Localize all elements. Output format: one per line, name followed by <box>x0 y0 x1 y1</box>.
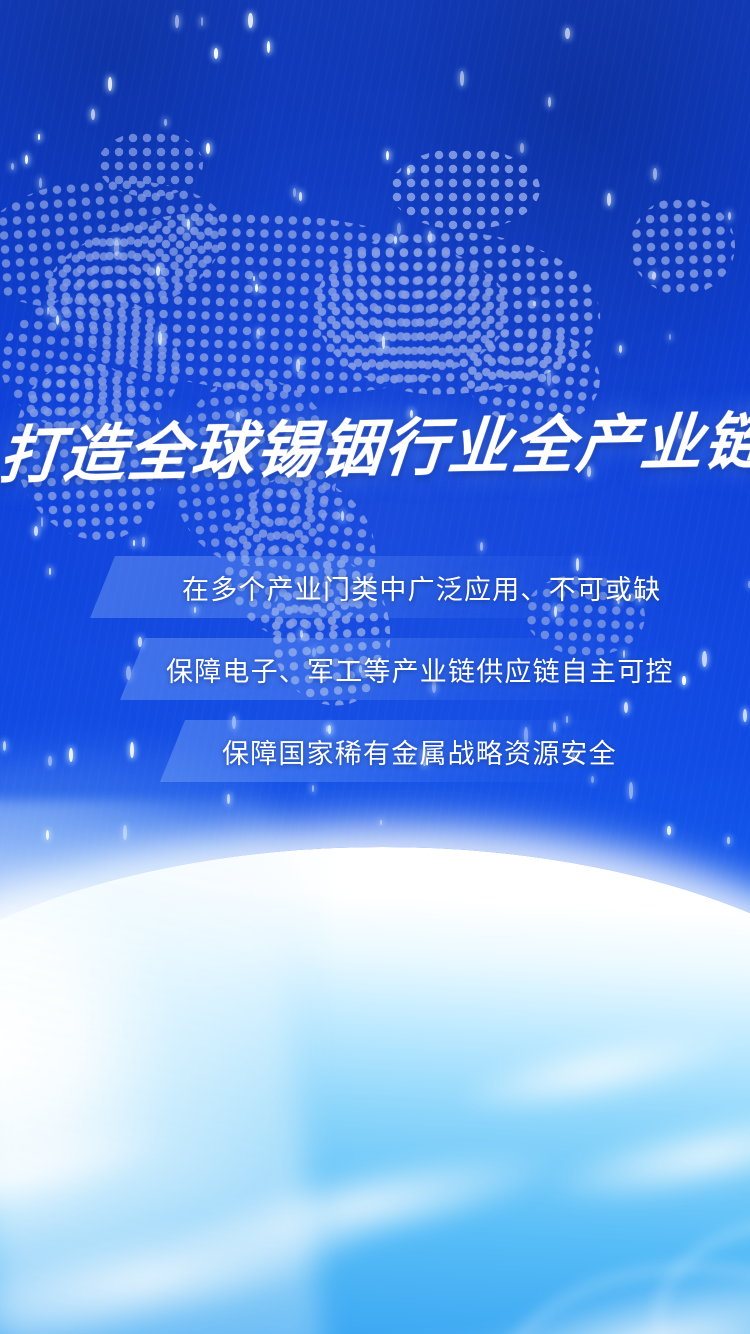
star-sparkle-icon <box>206 143 210 154</box>
star-sparkle-icon <box>299 192 303 200</box>
star-sparkle-icon <box>394 236 397 244</box>
star-sparkle-icon <box>397 223 401 234</box>
bullet-banner-3: 保障国家稀有金属战略资源安全 <box>160 720 590 782</box>
star-sparkle-icon <box>38 134 40 139</box>
map-landmass <box>628 195 736 297</box>
bullet-text-1: 在多个产业门类中广泛应用、不可或缺 <box>182 568 661 607</box>
star-sparkle-icon <box>727 837 729 844</box>
cloud-swirl <box>653 1215 750 1334</box>
star-sparkle-icon <box>123 825 127 840</box>
star-sparkle-icon <box>386 151 389 160</box>
star-sparkle-icon <box>187 219 190 231</box>
star-sparkle-icon <box>520 143 524 153</box>
star-sparkle-icon <box>293 188 297 197</box>
bullet-text-2: 保障电子、军工等产业链供应链自主可控 <box>166 650 674 689</box>
star-sparkle-icon <box>407 168 410 176</box>
star-sparkle-icon <box>248 13 253 28</box>
map-landmass <box>390 148 540 230</box>
star-sparkle-icon <box>619 345 623 354</box>
star-sparkle-icon <box>682 676 685 685</box>
star-sparkle-icon <box>158 331 162 346</box>
star-sparkle-icon <box>533 301 536 307</box>
star-sparkle-icon <box>175 15 179 28</box>
star-sparkle-icon <box>48 756 52 766</box>
star-sparkle-icon <box>480 542 483 551</box>
star-sparkle-icon <box>460 71 465 86</box>
star-sparkle-icon <box>652 272 656 280</box>
star-sparkle-icon <box>607 193 612 206</box>
star-sparkle-icon <box>702 651 707 667</box>
bullet-banner-2: 保障电子、军工等产业链供应链自主可控 <box>120 638 620 700</box>
star-sparkle-icon <box>743 709 747 723</box>
map-landmass <box>98 131 203 197</box>
star-sparkle-icon <box>214 48 219 58</box>
star-sparkle-icon <box>227 794 230 805</box>
star-sparkle-icon <box>547 370 552 386</box>
page-title: 打造全球锡铟行业全产业链链主 <box>0 411 750 487</box>
cloud-blob <box>447 1009 746 1132</box>
star-sparkle-icon <box>624 702 628 713</box>
poster-canvas: 打造全球锡铟行业全产业链链主 在多个产业门类中广泛应用、不可或缺 保障电子、军工… <box>0 0 750 1334</box>
star-sparkle-icon <box>312 785 314 792</box>
bullet-banner-1: 在多个产业门类中广泛应用、不可或缺 <box>90 556 610 618</box>
star-sparkle-icon <box>629 782 634 799</box>
star-sparkle-icon <box>25 155 28 164</box>
star-sparkle-icon <box>69 748 73 762</box>
star-sparkle-icon <box>382 336 385 349</box>
star-sparkle-icon <box>156 266 160 276</box>
bullet-text-3: 保障国家稀有金属战略资源安全 <box>222 732 617 771</box>
star-sparkle-icon <box>667 826 670 835</box>
